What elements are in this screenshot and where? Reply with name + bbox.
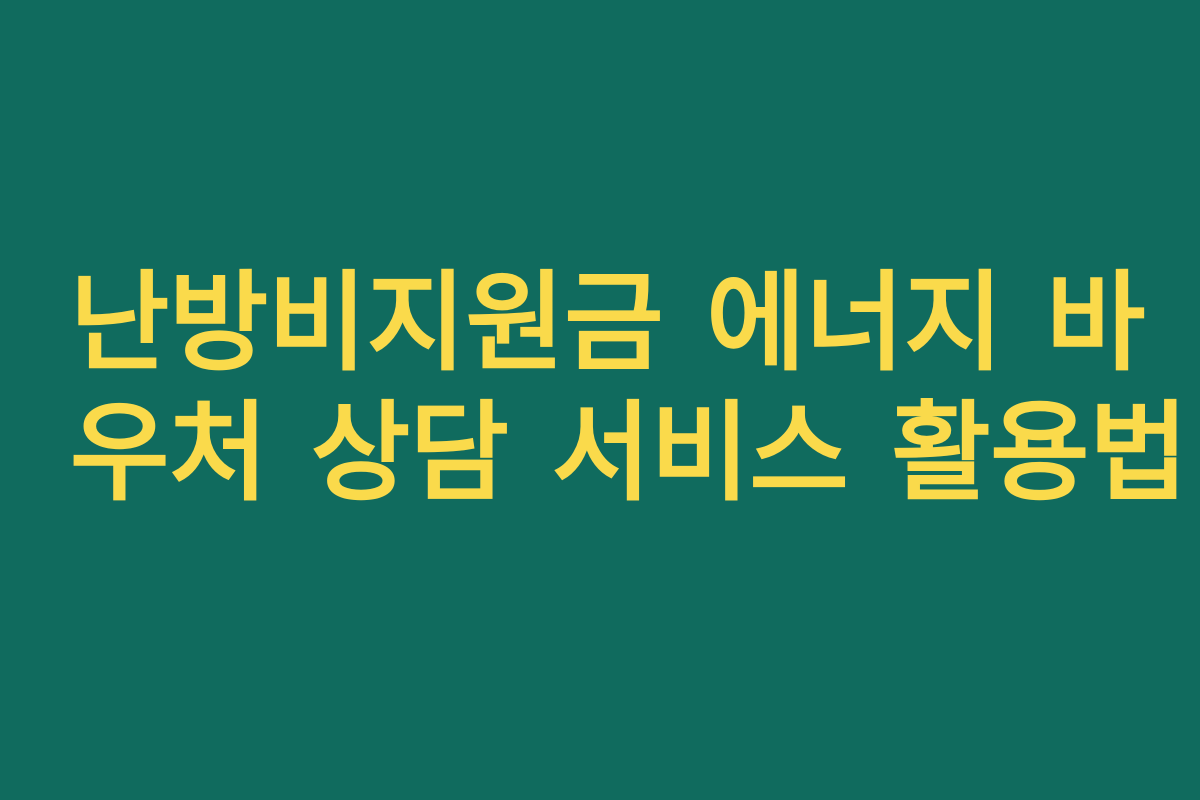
title-line-1: 난방비지원금 에너지 바	[70, 259, 1130, 389]
title-line-2: 우처 상담 서비스 활용법	[70, 389, 1130, 519]
title-text-block: 난방비지원금 에너지 바 우처 상담 서비스 활용법	[70, 259, 1130, 519]
title-card-canvas: 난방비지원금 에너지 바 우처 상담 서비스 활용법	[0, 0, 1200, 800]
